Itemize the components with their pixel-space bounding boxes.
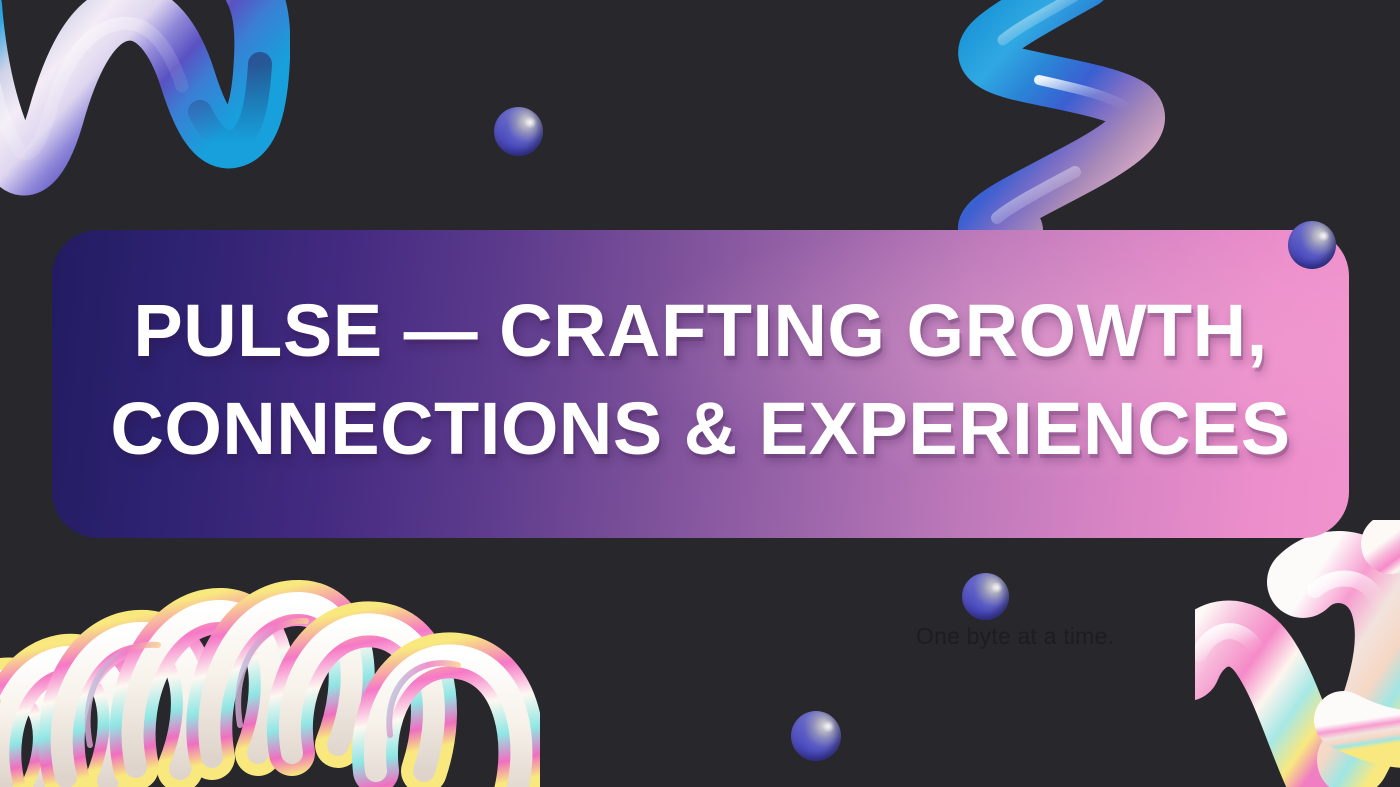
- title-line-2: CONNECTIONS & EXPERIENCES: [108, 380, 1293, 478]
- title-card: PULSE — CRAFTING GROWTH, CONNECTIONS & E…: [52, 230, 1349, 538]
- iridescent-tubes-bottom-right-icon: [1195, 520, 1400, 787]
- title-line-1: PULSE — CRAFTING GROWTH,: [108, 282, 1293, 380]
- sphere-decoration-upper-mid: [494, 107, 543, 156]
- sphere-decoration-lower-mid: [962, 573, 1009, 620]
- slide-canvas: PULSE — CRAFTING GROWTH, CONNECTIONS & E…: [0, 0, 1400, 787]
- subtitle-tagline: One byte at a time.: [916, 623, 1114, 650]
- zigzag-ribbon-top-right-icon: [955, 0, 1195, 240]
- iridescent-coil-bottom-left-icon: [0, 545, 540, 787]
- page-title: PULSE — CRAFTING GROWTH, CONNECTIONS & E…: [52, 282, 1349, 478]
- wave-ribbon-top-left-icon: [0, 0, 290, 198]
- sphere-decoration-card-corner: [1288, 221, 1336, 269]
- sphere-decoration-bottom: [791, 711, 841, 761]
